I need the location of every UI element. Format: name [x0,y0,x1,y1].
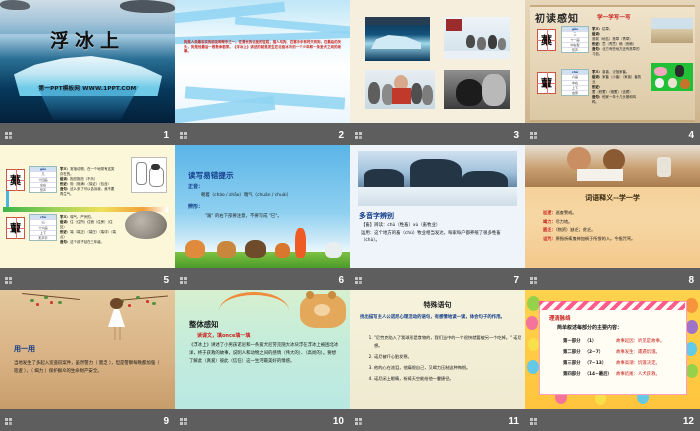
slide-cell-1[interactable]: 浮冰上 第一PPT模板网 WWW.1PPT.COM 1 [0,0,175,145]
animal-bear-icon [245,240,266,258]
slide-1-footer-url: 第一PPT模板网 WWW.1PPT.COM [0,84,175,92]
slide-cell-8[interactable]: 词语释义--学一学 巡逻：巡查警戒。 竭力：尽力地。 匮乏：（物资）缺乏；贫乏。… [525,145,700,290]
char-card-2: 蕈 [6,217,25,239]
slide-4-canvas[interactable]: 初读感知 学一学写一写 藁 ɡǎo 三 十一画 中右型 形声 字义：枯草。 组词… [525,0,700,123]
slide-3-footer-bar: 3 [350,123,525,145]
slide-2-page-number: 2 [338,130,344,142]
slide-6-section-1-label: 正音： [188,183,203,190]
slide-cell-5[interactable]: 藁 ɡǎo 几 十四画 左右 形声 字义：常指动物，在一个地带有这类存在的。 组… [0,145,175,290]
slide-12-structure-table: 第一部分 （1） 故事起因：听见是故事。 第二部分 （2~7） 故事发生：遭遇饥… [563,335,668,380]
slide-8-word-list: 巡逻：巡查警戒。 竭力：尽力地。 匮乏：（物资）缺乏；贫乏。 诅咒：原指祈祷鬼神… [543,209,635,243]
slide-thumbnail-grid: 浮冰上 第一PPT模板网 WWW.1PPT.COM 1 狗是人类最忠实的朋友和帮… [0,0,700,431]
word-meaning: 原指祈祷鬼神加祸于所恨的人。今指咒骂。 [556,236,636,241]
bunting-decor [539,301,685,310]
slide-8-title: 词语释义--学一学 [525,193,700,203]
slide-11-sentence-list: "尼劳克陷入了我球形是食物的，我们当中的一个很快就要被另一个吃掉。" 诺尼想。 … [364,334,525,386]
list-item: 诺尼被吓心脏发寒。 [374,353,525,361]
char-tab: 形声 [562,47,588,52]
animal-polar-bear-icon [325,242,342,258]
ppt-file-icon [355,418,364,427]
char-definition-list-1: 字义：常指动物，在一个地带有这类存在的。 组词：抱怨抱怨（不乐） 形近：饱（饱满… [60,167,116,197]
char-tab: 会意 [562,90,588,95]
photo-mountains-in-clouds [358,151,517,206]
animal-fox-icon [185,240,205,258]
rock-right-icon [120,0,175,13]
slide-1-footer-bar: 1 [0,123,175,145]
slide-7-page-number: 7 [513,275,519,287]
def-text: 蒿（青蒿）稿（底稿） [602,42,636,46]
photo-farm-animals [651,63,693,91]
slide-12-title: 理清脉络 [549,314,571,322]
slide-4-page-number: 4 [688,130,694,142]
ppt-file-icon [355,132,364,141]
list-item: "尼劳克陷入了我球形是食物的，我们当中的一个很快就要被另一个吃掉。" 诺尼想。 [374,334,525,349]
def-label: 造句： [60,187,70,191]
word-meaning: 巡查警戒。 [556,210,577,215]
slide-11-page-number: 11 [508,416,519,428]
char-card-2-glyph: 蕈 [538,73,555,93]
part-label: 第二部分 [563,346,585,357]
slide-8-footer-bar: 8 [525,268,700,290]
slide-cell-6[interactable]: 读写易错提示 正音： 朝着（cháo / zhāo）喘气（chuǎn / chu… [175,145,350,290]
word-term: 竭力： [543,219,556,224]
slide-10-page-number: 10 [333,416,344,428]
slide-4-footer-bar: 4 [525,123,700,145]
slide-3-page-number: 3 [513,130,519,142]
part-label: 第四部分 [563,369,585,380]
def-label: 组词： [60,220,70,224]
slide-6-section-1-text: 朝着（cháo / zhāo）喘气（chuǎn / chuài） [201,192,291,198]
ppt-file-icon [180,277,189,286]
balloon-decor [527,360,539,374]
char-info-tabs-1: ɡǎo 几 十四画 左右 形声 [29,166,57,193]
slide-cell-2[interactable]: 狗是人类最忠实的朋友和帮手之一。在漫长的北极的征程，猎人与狗、在寒冷中有时只有狗… [175,0,350,145]
slide-6-page-number: 6 [338,275,344,287]
balloon-decor [528,338,539,351]
part-summary: 故事起因：听见是故事。 [616,335,668,346]
char-tab: 形声 [30,187,56,192]
table-row: 第四部分 （14~最后） 故事结尾：人犬获救。 [563,369,668,380]
table-row: 第一部分 （1） 故事起因：听见是故事。 [563,335,668,346]
illustration-dog-sketch [131,157,167,193]
animal-giraffe-icon [295,228,306,258]
part-summary: 故事高潮：饥饿决定。 [616,357,668,368]
table-row: 第三部分 （7~13） 故事高潮：饥饿决定。 [563,357,668,368]
rainbow-decor [219,292,289,311]
slide-1-title: 浮冰上 [0,26,175,53]
list-item: 诺尼闭上眼睛，祈祷天空能给他一霎捷径。 [374,375,525,383]
slide-12-canvas[interactable]: 理清脉络 简单叙述每部分的主要内容： 第一部分 （1） 故事起因：听见是故事。 … [525,290,700,409]
slide-cell-9[interactable]: 用一用 当地发生了多起入室盗窃案件，虽然警力（ 匮乏 ），但是警察每晚都加强（ … [0,290,175,431]
char-card-1-glyph: 藁 [7,170,24,190]
slide-4-title: 初读感知 [535,10,579,25]
def-text: 饱（饱满）（保证）（包含） [70,182,111,186]
char-info-tabs-1: ɡǎo 三 十一画 中右型 形声 [561,26,589,53]
slide-2-footer-bar: 2 [175,123,350,145]
photo-children-reading [525,145,700,187]
slide-10-subtitle: 读课文，填once填一填 [197,332,250,339]
balloon-decor [686,320,698,334]
def-label: 组词： [592,75,602,79]
slide-11-title: 特殊语句 [350,300,525,310]
slide-cell-7[interactable]: 多音字辨别 【畜】辨读：chù（牲畜）xù（畜牧业） 运用：这个地方的畜（chù… [350,145,525,290]
def-label: 形近： [60,182,70,186]
char-tab: 形声字 [30,235,56,240]
part-range: （2~7） [585,346,616,357]
slide-7-canvas[interactable]: 多音字辨别 【畜】辨读：chù（牲畜）xù（畜牧业） 运用：这个地方的畜（chù… [350,145,525,268]
def-label: 造句： [592,95,602,99]
ppt-file-icon [5,132,14,141]
def-text: 枯草。 [602,27,612,31]
char-card-2: 蕈 [537,72,556,94]
def-text: 蓄（积蓄）（储蓄）（含蓄） [592,90,633,94]
slide-8-page-number: 8 [688,275,694,287]
char-definition-list-2: 字义：喘气，严厉的。 组词：住（住所）住宿（住房）（住处） 形近：端（端正）（端… [60,215,116,245]
slide-7-line-2: 运用：这个地方的畜（chù）牧业相当发达，每家每户都养殖了很多牲畜（chù）。 [361,231,513,244]
slide-6-canvas[interactable]: 读写易错提示 正音： 朝着（cháo / zhāo）喘气（chuǎn / chu… [175,145,350,268]
ppt-file-icon [180,132,189,141]
def-label: 字义： [592,27,602,31]
def-text: 藁城（地名）藁草（青草） [592,37,633,41]
slide-7-title: 多音字辨别 [359,211,394,221]
slide-9-footer-bar: 9 [0,409,175,431]
slide-12-footer-bar: 12 [525,409,700,431]
slide-2-canvas[interactable]: 狗是人类最忠实的朋友和帮手之一。在漫长的北极的征程，猎人与狗、在寒冷中有时只有狗… [175,0,350,123]
def-label: 字义： [60,167,70,171]
word-term: 诅咒： [543,236,556,241]
photo-stone [125,211,167,239]
word-term: 匮乏： [543,227,556,232]
ppt-file-icon [180,418,189,427]
def-label: 形近： [60,230,70,234]
slide-cell-11[interactable]: 特殊语句 找出描写主人公诺尼心理活动的语句，有感情地读一读，体会句子的作用。 "… [350,290,525,431]
def-text: 禽兽，泛指家畜。 [602,70,629,74]
slide-9-title: 用一用 [14,344,35,354]
part-label: 第一部分 [563,335,585,346]
char-info-tabs-2: chù 山 十六画 上下 形声字 [29,214,57,241]
animal-wolf-icon [217,241,236,258]
def-text: 这个孩子站在三年级。 [70,240,104,244]
word-entry: 匮乏：（物资）缺乏；贫乏。 [543,226,635,235]
def-label: 组词： [592,32,602,36]
part-range: （1） [585,335,616,346]
def-label: 组词： [60,177,70,181]
slide-cell-10[interactable]: 整体感知 读课文，填once填一填 《浮冰上》讲述了小男孩诺尼和一条爱犬尼劳克随… [175,290,350,431]
slide-10-canvas[interactable]: 整体感知 读课文，填once填一填 《浮冰上》讲述了小男孩诺尼和一条爱犬尼劳克随… [175,290,350,409]
slide-cell-12[interactable]: 理清脉络 简单叙述每部分的主要内容： 第一部分 （1） 故事起因：听见是故事。 … [525,290,700,431]
illustration-bear [300,294,346,328]
slide-1-page-number: 1 [163,130,169,142]
slide-10-footer-bar: 10 [175,409,350,431]
slide-5-page-number: 5 [163,275,169,287]
char-card-1: 藁 [6,169,25,191]
balloon-decor [526,316,538,330]
slide-5-canvas[interactable]: 藁 ɡǎo 几 十四画 左右 形声 字义：常指动物，在一个地带有这类存在的。 组… [0,145,175,268]
char-definition-list-2: 字义：禽兽，泛指家畜。 组词：家畜（小畜）（家禽）畜牧业 形近：蓄（积蓄）（储蓄… [592,70,642,105]
ppt-file-icon [5,277,14,286]
photo-puppy [444,70,510,109]
slide-9-canvas[interactable]: 用一用 当地发生了多起入室盗窃案件，虽然警力（ 匮乏 ），但是警察每晚都加强（ … [0,290,175,409]
char-info-tabs-2: chù 六画 中右 上下 会意 [561,69,589,96]
slide-cell-4[interactable]: 初读感知 学一学写一写 藁 ɡǎo 三 十一画 中右型 形声 字义：枯草。 组词… [525,0,700,145]
slide-4-subtitle: 学一学写一写 [597,13,631,21]
slide-cell-3[interactable]: 3 [350,0,525,145]
ppt-file-icon [355,277,364,286]
illustration-girl [104,298,130,342]
slide-6-footer-bar: 6 [175,268,350,290]
ppt-file-icon [530,418,539,427]
char-card-1-glyph: 藁 [538,30,555,50]
slide-11-footer-bar: 11 [350,409,525,431]
word-meaning: （物资）缺乏；贫乏。 [556,227,596,232]
def-label: 字义： [592,70,602,74]
part-summary: 故事发生：遭遇饥饿。 [616,346,668,357]
photo-iceberg [365,17,430,61]
balloon-decor [686,364,698,378]
char-card-1: 藁 [537,29,556,51]
slide-11-canvas[interactable]: 特殊语句 找出描写主人公诺尼心理活动的语句，有感情地读一读，体会句子的作用。 "… [350,290,525,409]
def-label: 形近： [592,42,602,46]
def-text: 抱怨抱怨（不乐） [70,177,97,181]
photo-grassland [651,18,693,43]
char-card-2-glyph: 蕈 [7,218,24,238]
part-range: （7~13） [585,357,616,368]
slide-9-body: 当地发生了多起入室盗窃案件，虽然警力（ 匮乏 ），但是警察每晚都加强（ 巡逻 ）… [14,360,164,376]
slide-12-page-number: 12 [683,416,694,428]
part-summary: 故事结尾：人犬获救。 [616,369,668,380]
slide-1-canvas[interactable]: 浮冰上 第一PPT模板网 WWW.1PPT.COM [0,0,175,123]
def-label: 形近： [592,85,602,89]
slide-10-title: 整体感知 [189,319,219,330]
photo-huskies-with-person [365,70,435,109]
slide-6-title: 读写易错提示 [188,170,234,181]
word-meaning: 尽力地。 [556,219,573,224]
slide-10-body: 《浮冰上》讲述了小男孩诺尼和一条爱犬尼劳克随大冰块浮在浮冰上被困北冰洋，终于获救… [189,342,339,365]
def-label: 造句： [60,240,70,244]
ppt-file-icon [530,132,539,141]
slide-7-line-1: 【畜】辨读：chù（牲畜）xù（畜牧业） [361,222,440,228]
word-entry: 巡逻：巡查警戒。 [543,209,635,218]
word-term: 巡逻： [543,210,556,215]
char-definition-list-1: 字义：枯草。 组词：藁城（地名）藁草（青草） 形近：蒿（青蒿）稿（底稿） 造句：… [592,27,642,57]
rock-left-icon [0,0,30,10]
slide-9-page-number: 9 [163,416,169,428]
photo-sled-dogs [444,17,510,59]
word-entry: 竭力：尽力地。 [543,218,635,227]
slide-12-lead: 简单叙述每部分的主要内容： [557,324,622,331]
animal-squirrel-icon [275,243,290,258]
slide-7-footer-bar: 7 [350,268,525,290]
word-entry: 诅咒：原指祈祷鬼神加祸于所恨的人。今指咒骂。 [543,235,635,244]
list-item: 他的心在流泪，他痛恨自己，又竭力压制这种悔恨。 [374,364,525,372]
slide-8-canvas[interactable]: 词语释义--学一学 巡逻：巡查警戒。 竭力：尽力地。 匮乏：（物资）缺乏；贫乏。… [525,145,700,268]
slide-2-body-text: 狗是人类最忠实的朋友和帮手之一。在漫长的北极的征程，猎人与狗、在寒冷中有时只有狗… [184,40,341,54]
ppt-file-icon [530,277,539,286]
table-row: 第二部分 （2~7） 故事发生：遭遇饥饿。 [563,346,668,357]
def-label: 造句： [592,47,602,51]
slide-6-section-2-text: "跋" 的右下部要注意，不要写成 "巳"。 [205,213,282,219]
slide-5-footer-bar: 5 [0,268,175,290]
ppt-file-icon [5,418,14,427]
slide-6-section-2-label: 辨形： [188,203,203,210]
slide-3-canvas[interactable] [350,0,525,123]
part-range: （14~最后） [585,369,616,380]
def-label: 字义： [60,215,70,219]
part-label: 第三部分 [563,357,585,368]
slide-11-lead: 找出描写主人公诺尼心理活动的语句，有感情地读一读，体会句子的作用。 [360,314,516,321]
def-text: 喘气，严厉的。 [70,215,94,219]
